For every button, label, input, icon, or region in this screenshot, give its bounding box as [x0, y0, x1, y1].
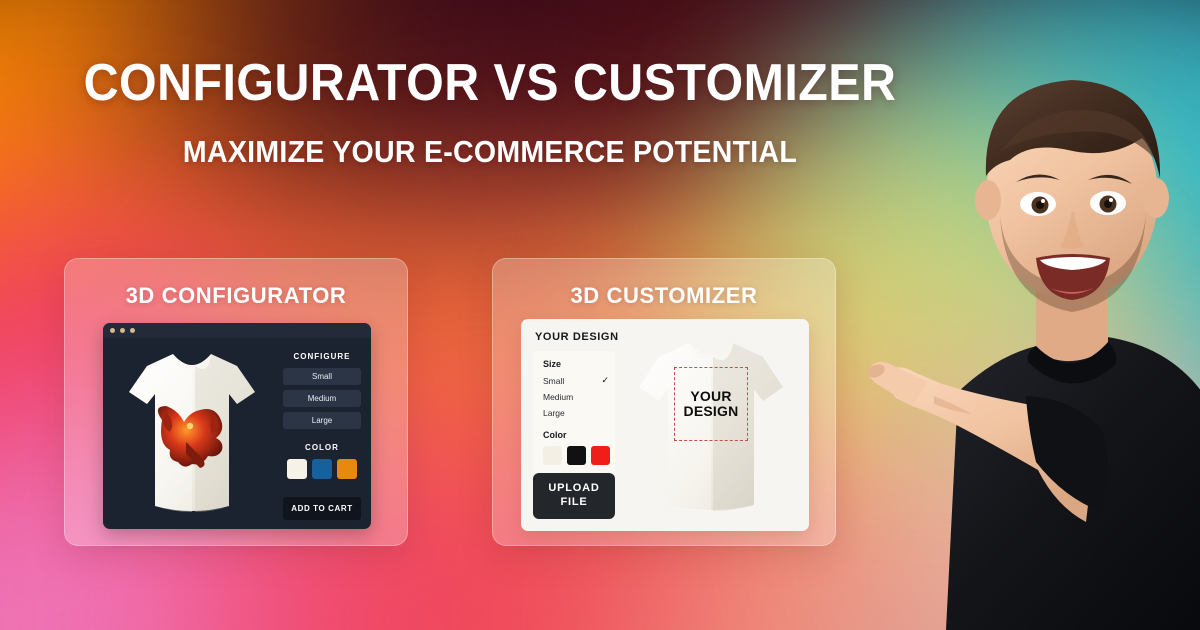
window-dot-minimize-icon[interactable]: [120, 328, 125, 333]
size-button-medium[interactable]: Medium: [283, 390, 361, 407]
configurator-shirt-preview: [117, 346, 267, 524]
color-swatch-cream[interactable]: [543, 446, 562, 465]
size-option-large[interactable]: Large: [543, 408, 609, 418]
window-dot-close-icon[interactable]: [110, 328, 115, 333]
add-to-cart-button[interactable]: ADD TO CART: [283, 497, 361, 520]
card-customizer: 3D CUSTOMIZER YOUR DESIGN Size Small ✓ M…: [492, 258, 836, 546]
color-swatch-black[interactable]: [567, 446, 586, 465]
person-illustration: [850, 0, 1200, 630]
design-placeholder-line1: YOUR: [690, 389, 731, 405]
size-label: Size: [543, 359, 615, 369]
color-label: Color: [543, 430, 615, 440]
upload-file-line2: FILE: [537, 496, 611, 510]
configure-label: CONFIGURE: [283, 352, 361, 361]
page-subtitle: MAXIMIZE YOUR E-COMMERCE POTENTIAL: [39, 134, 941, 170]
color-swatch-white[interactable]: [287, 459, 307, 479]
size-option-small[interactable]: Small ✓: [543, 375, 609, 386]
card-configurator-title: 3D CONFIGURATOR: [65, 283, 407, 309]
size-button-large[interactable]: Large: [283, 412, 361, 429]
design-placeholder-line2: DESIGN: [684, 404, 739, 420]
color-label: COLOR: [283, 443, 361, 452]
configurator-options-panel: CONFIGURE Small Medium Large COLOR ADD T…: [283, 352, 361, 520]
color-swatch-red[interactable]: [591, 446, 610, 465]
check-icon: ✓: [601, 375, 609, 386]
color-swatch-blue[interactable]: [312, 459, 332, 479]
promo-banner: CONFIGURATOR VS CUSTOMIZER MAXIMIZE YOUR…: [0, 0, 1200, 630]
card-customizer-title: 3D CUSTOMIZER: [493, 283, 835, 309]
size-option-medium-label: Medium: [543, 392, 573, 402]
upload-file-button[interactable]: UPLOAD FILE: [533, 473, 615, 519]
customizer-app-window: YOUR DESIGN Size Small ✓ Medium Large Co…: [521, 319, 809, 531]
size-option-small-label: Small: [543, 376, 564, 386]
color-swatch-orange[interactable]: [337, 459, 357, 479]
customizer-shirt-preview: YOUR DESIGN: [625, 333, 797, 521]
size-option-medium[interactable]: Medium: [543, 392, 609, 402]
card-configurator: 3D CONFIGURATOR: [64, 258, 408, 546]
page-title: CONFIGURATOR VS CUSTOMIZER: [34, 56, 945, 111]
tshirt-dragon-icon: [117, 346, 267, 524]
window-titlebar: [103, 323, 371, 338]
upload-file-line1: UPLOAD: [537, 482, 611, 496]
person-pointing-photo: [850, 0, 1200, 630]
size-option-large-label: Large: [543, 408, 565, 418]
your-design-heading: YOUR DESIGN: [535, 331, 619, 343]
size-button-small[interactable]: Small: [283, 368, 361, 385]
design-placeholder-box[interactable]: YOUR DESIGN: [674, 367, 748, 441]
customizer-options-panel: Size Small ✓ Medium Large Color: [533, 351, 615, 475]
configurator-app-window: CONFIGURE Small Medium Large COLOR ADD T…: [103, 323, 371, 529]
window-dot-maximize-icon[interactable]: [130, 328, 135, 333]
color-swatch-row: [283, 459, 361, 479]
color-swatch-row: [543, 446, 615, 465]
